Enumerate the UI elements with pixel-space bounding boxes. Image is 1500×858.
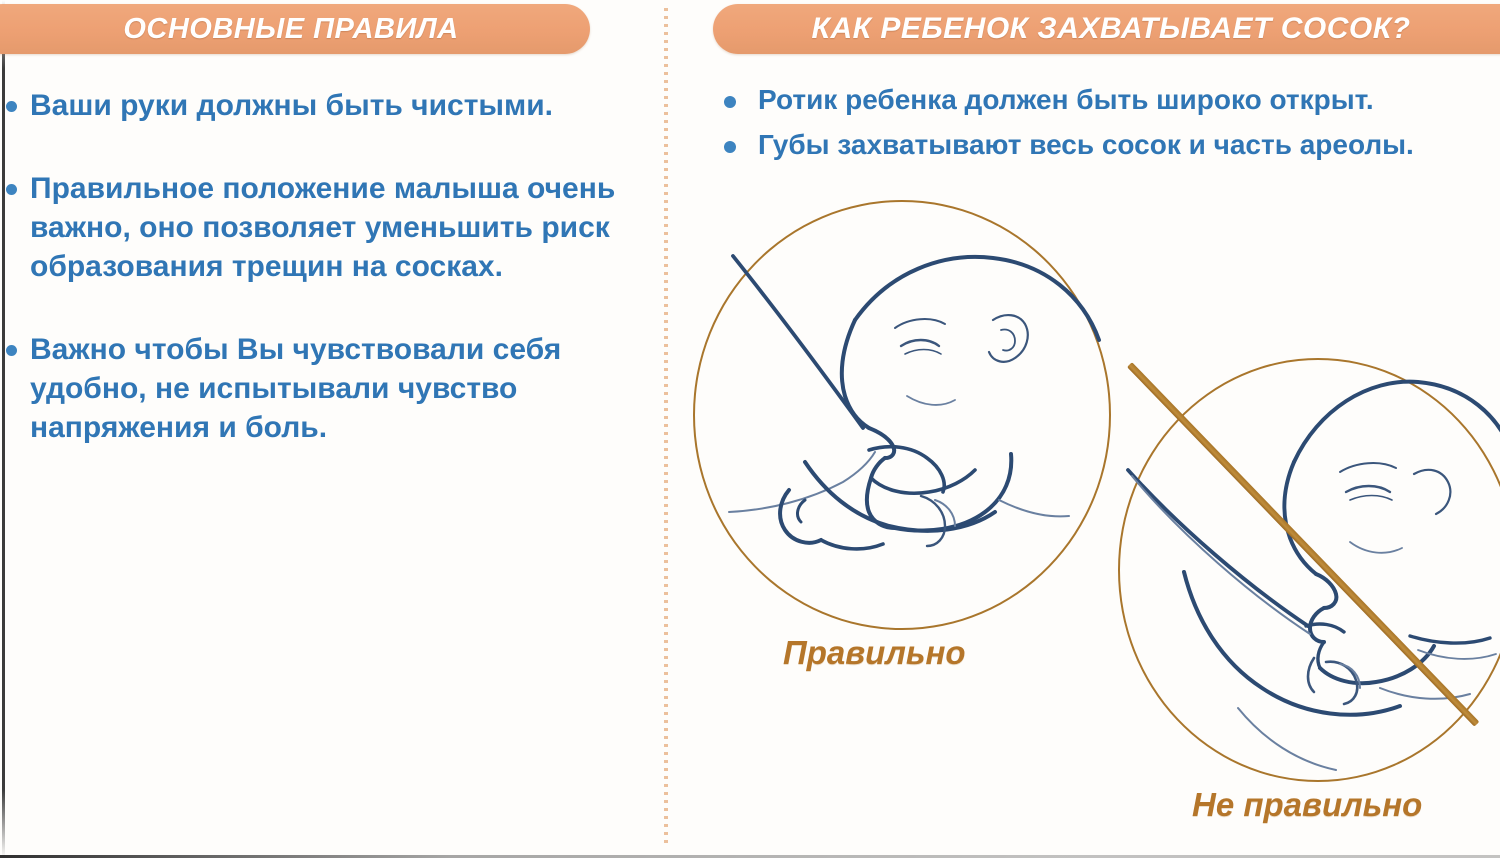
correct-latch-illustration-icon <box>693 200 1111 630</box>
incorrect-latch-illustration-icon <box>1118 358 1500 782</box>
left-panel-rules-list: Ваши руки должны быть чистыми. Правильно… <box>0 86 650 447</box>
incorrect-latch-caption: Не правильно <box>1192 786 1422 824</box>
leaflet-page: ОСНОВНЫЕ ПРАВИЛА КАК РЕБЕНОК ЗАХВАТЫВАЕТ… <box>0 0 1500 858</box>
right-panel-banner-title: КАК РЕБЕНОК ЗАХВАТЫВАЕТ СОСОК? <box>812 12 1445 46</box>
list-item: Важно чтобы Вы чувствовали себя удобно, … <box>0 330 650 447</box>
left-panel-banner: ОСНОВНЫЕ ПРАВИЛА <box>0 4 590 54</box>
fold-divider <box>664 8 668 846</box>
right-panel-banner: КАК РЕБЕНОК ЗАХВАТЫВАЕТ СОСОК? <box>713 4 1500 54</box>
list-item: Губы захватывают весь сосок и часть арео… <box>700 127 1500 163</box>
list-item: Ротик ребенка должен быть широко открыт. <box>700 82 1500 118</box>
right-panel-rules-list: Ротик ребенка должен быть широко открыт.… <box>700 82 1500 164</box>
list-item: Ваши руки должны быть чистыми. <box>0 86 650 125</box>
right-panel-content: Ротик ребенка должен быть широко открыт.… <box>700 82 1500 173</box>
correct-latch-caption: Правильно <box>783 634 966 672</box>
left-panel-content: Ваши руки должны быть чистыми. Правильно… <box>0 86 650 491</box>
list-item: Правильное положение малыша очень важно,… <box>0 169 650 286</box>
left-panel-banner-title: ОСНОВНЫЕ ПРАВИЛА <box>109 13 458 46</box>
